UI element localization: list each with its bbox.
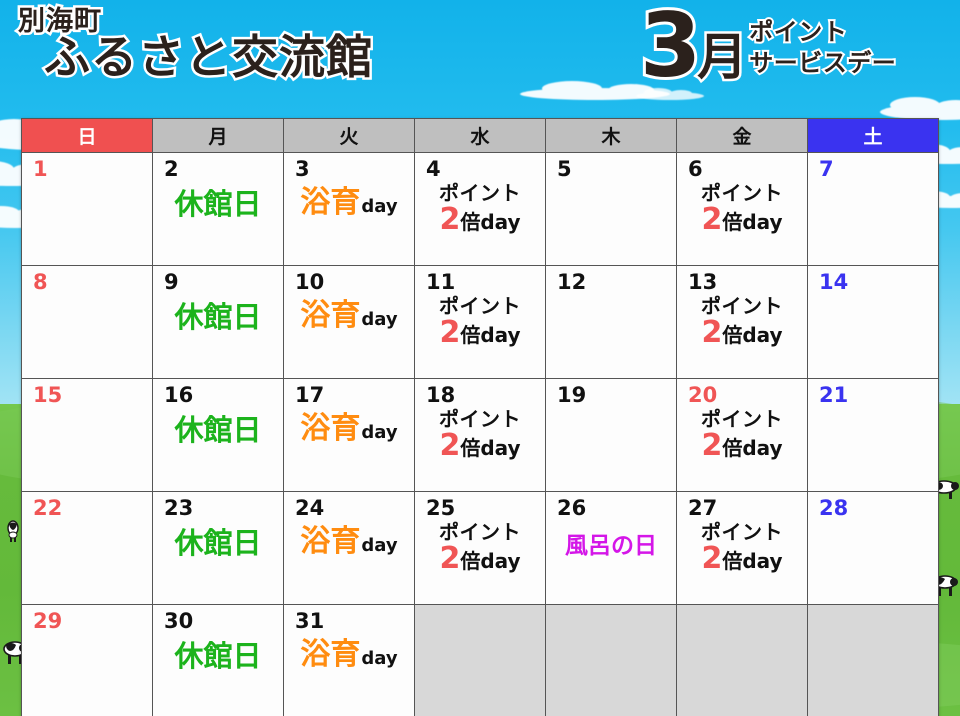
day-number: 1: [22, 153, 152, 180]
event-bath-jp: 浴育: [300, 411, 360, 446]
calendar-cell-empty: [808, 605, 939, 716]
event-furo-day: 風呂の日: [546, 535, 676, 558]
day-number: 2: [153, 153, 283, 180]
point-bai: 倍: [460, 549, 480, 573]
event-point-day: ポイント2倍day: [415, 183, 545, 235]
event-bath-jp: 浴育: [300, 524, 360, 559]
point-bai: 倍: [460, 436, 480, 460]
calendar-poster: 別海町 ふるさと交流館 3 月 ポイント サービスデー 日月火水木金土 12休館…: [0, 0, 960, 716]
calendar-week-row: 12休館日3浴育day4ポイント2倍day56ポイント2倍day7: [22, 153, 939, 266]
day-number: 3: [284, 153, 414, 180]
calendar-day-cell[interactable]: 2休館日: [153, 153, 284, 266]
event-point-day: ポイント2倍day: [415, 522, 545, 574]
point-multiplier: 2: [439, 315, 460, 350]
day-number: 5: [546, 153, 676, 180]
day-number: 21: [808, 379, 938, 406]
point-day-en: day: [742, 436, 782, 460]
day-number: 28: [808, 492, 938, 519]
event-point-label: ポイント: [677, 409, 807, 429]
month-suffix: 月: [697, 32, 747, 82]
calendar-day-cell[interactable]: 20ポイント2倍day: [677, 379, 808, 492]
point-day-en: day: [742, 210, 782, 234]
point-day-en: day: [742, 323, 782, 347]
weekday-header-row: 日月火水木金土: [22, 119, 939, 153]
event-closed: 休館日: [153, 416, 283, 445]
day-number: 29: [22, 605, 152, 632]
calendar-day-cell[interactable]: 25ポイント2倍day: [415, 492, 546, 605]
event-bath-en: day: [361, 422, 397, 443]
point-multiplier: 2: [701, 202, 722, 237]
calendar-day-cell[interactable]: 23休館日: [153, 492, 284, 605]
point-multiplier: 2: [439, 541, 460, 576]
day-number: 14: [808, 266, 938, 293]
point-multiplier: 2: [439, 428, 460, 463]
service-line-2: サービスデー: [749, 48, 896, 79]
calendar-day-cell[interactable]: 13ポイント2倍day: [677, 266, 808, 379]
point-bai: 倍: [722, 436, 742, 460]
weekday-header-1: 月: [153, 119, 284, 153]
day-number: 9: [153, 266, 283, 293]
day-number: 4: [415, 153, 545, 180]
day-number: 27: [677, 492, 807, 519]
event-closed: 休館日: [153, 303, 283, 332]
event-bath-jp: 浴育: [300, 298, 360, 333]
point-multiplier: 2: [439, 202, 460, 237]
calendar-week-row: 2223休館日24浴育day25ポイント2倍day26風呂の日27ポイント2倍d…: [22, 492, 939, 605]
event-point-day: ポイント2倍day: [415, 296, 545, 348]
weekday-header-5: 金: [677, 119, 808, 153]
point-multiplier: 2: [701, 315, 722, 350]
day-number: 25: [415, 492, 545, 519]
event-point-label: ポイント: [415, 296, 545, 316]
event-bath-jp: 浴育: [300, 637, 360, 672]
calendar-day-cell[interactable]: 26風呂の日: [546, 492, 677, 605]
day-number: 10: [284, 266, 414, 293]
calendar-day-cell[interactable]: 3浴育day: [284, 153, 415, 266]
day-number: 13: [677, 266, 807, 293]
calendar-day-cell[interactable]: 15: [22, 379, 153, 492]
calendar-day-cell[interactable]: 28: [808, 492, 939, 605]
event-point-label: ポイント: [677, 183, 807, 203]
calendar-cell-empty: [415, 605, 546, 716]
calendar-day-cell[interactable]: 17浴育day: [284, 379, 415, 492]
event-point-day: ポイント2倍day: [677, 522, 807, 574]
day-number: 6: [677, 153, 807, 180]
point-day-en: day: [480, 436, 520, 460]
event-point-value: 2倍day: [677, 205, 807, 235]
event-bath-day: 浴育day: [284, 301, 414, 331]
point-bai: 倍: [722, 549, 742, 573]
event-point-label: ポイント: [415, 183, 545, 203]
calendar-day-cell[interactable]: 4ポイント2倍day: [415, 153, 546, 266]
point-day-en: day: [480, 323, 520, 347]
event-point-value: 2倍day: [415, 431, 545, 461]
event-point-value: 2倍day: [415, 318, 545, 348]
point-day-en: day: [480, 210, 520, 234]
calendar-day-cell[interactable]: 16休館日: [153, 379, 284, 492]
day-number: 24: [284, 492, 414, 519]
day-number: 7: [808, 153, 938, 180]
calendar-day-cell[interactable]: 29: [22, 605, 153, 716]
weekday-header-4: 木: [546, 119, 677, 153]
calendar-day-cell[interactable]: 6ポイント2倍day: [677, 153, 808, 266]
event-bath-jp: 浴育: [300, 185, 360, 220]
event-point-label: ポイント: [415, 522, 545, 542]
event-point-day: ポイント2倍day: [677, 296, 807, 348]
event-point-day: ポイント2倍day: [677, 409, 807, 461]
point-bai: 倍: [460, 210, 480, 234]
day-number: 8: [22, 266, 152, 293]
cow-icon: [4, 519, 22, 545]
facility-name: ふるさと交流館: [44, 33, 373, 83]
point-bai: 倍: [722, 210, 742, 234]
event-bath-day: 浴育day: [284, 640, 414, 670]
day-number: 12: [546, 266, 676, 293]
calendar-week-row: 89休館日10浴育day11ポイント2倍day1213ポイント2倍day14: [22, 266, 939, 379]
weekday-header-3: 水: [415, 119, 546, 153]
facility-title-block: 別海町 ふるさと交流館: [18, 8, 373, 83]
calendar-day-cell[interactable]: 14: [808, 266, 939, 379]
event-bath-day: 浴育day: [284, 188, 414, 218]
day-number: 22: [22, 492, 152, 519]
point-multiplier: 2: [701, 428, 722, 463]
calendar-day-cell[interactable]: 30休館日: [153, 605, 284, 716]
calendar-day-cell[interactable]: 24浴育day: [284, 492, 415, 605]
day-number: 30: [153, 605, 283, 632]
weekday-header-2: 火: [284, 119, 415, 153]
event-bath-en: day: [361, 196, 397, 217]
calendar-day-cell[interactable]: 19: [546, 379, 677, 492]
calendar-cell-empty: [677, 605, 808, 716]
day-number: 11: [415, 266, 545, 293]
calendar-day-cell[interactable]: 27ポイント2倍day: [677, 492, 808, 605]
day-number: 20: [677, 379, 807, 406]
event-bath-day: 浴育day: [284, 527, 414, 557]
calendar-day-cell[interactable]: 1: [22, 153, 153, 266]
calendar-day-cell[interactable]: 7: [808, 153, 939, 266]
calendar-week-row: 1516休館日17浴育day18ポイント2倍day1920ポイント2倍day21: [22, 379, 939, 492]
event-point-value: 2倍day: [677, 544, 807, 574]
calendar-day-cell[interactable]: 11ポイント2倍day: [415, 266, 546, 379]
calendar-cell-empty: [546, 605, 677, 716]
event-point-label: ポイント: [677, 522, 807, 542]
calendar-day-cell[interactable]: 8: [22, 266, 153, 379]
event-closed: 休館日: [153, 642, 283, 671]
event-point-value: 2倍day: [415, 205, 545, 235]
calendar-day-cell[interactable]: 21: [808, 379, 939, 492]
service-day-label: ポイント サービスデー: [749, 17, 896, 78]
day-number: 17: [284, 379, 414, 406]
service-line-1: ポイント: [749, 17, 896, 48]
poster-banner: 別海町 ふるさと交流館 3 月 ポイント サービスデー: [0, 0, 960, 118]
event-point-label: ポイント: [415, 409, 545, 429]
event-closed: 休館日: [153, 190, 283, 219]
event-bath-en: day: [361, 309, 397, 330]
event-closed: 休館日: [153, 529, 283, 558]
point-day-en: day: [480, 549, 520, 573]
day-number: 16: [153, 379, 283, 406]
calendar-week-row: 2930休館日31浴育day: [22, 605, 939, 716]
point-day-en: day: [742, 549, 782, 573]
month-title-block: 3 月 ポイント サービスデー: [640, 4, 896, 88]
weekday-header-6: 土: [808, 119, 939, 153]
calendar-table: 日月火水木金土 12休館日3浴育day4ポイント2倍day56ポイント2倍day…: [21, 118, 939, 716]
calendar-day-cell[interactable]: 22: [22, 492, 153, 605]
calendar-day-cell[interactable]: 10浴育day: [284, 266, 415, 379]
calendar-day-cell[interactable]: 9休館日: [153, 266, 284, 379]
event-point-day: ポイント2倍day: [415, 409, 545, 461]
point-bai: 倍: [722, 323, 742, 347]
point-bai: 倍: [460, 323, 480, 347]
month-number: 3: [640, 4, 699, 88]
day-number: 15: [22, 379, 152, 406]
calendar-day-cell[interactable]: 31浴育day: [284, 605, 415, 716]
day-number: 26: [546, 492, 676, 519]
event-bath-en: day: [361, 535, 397, 556]
day-number: 23: [153, 492, 283, 519]
event-point-value: 2倍day: [677, 431, 807, 461]
event-point-value: 2倍day: [415, 544, 545, 574]
event-bath-en: day: [361, 648, 397, 669]
event-point-label: ポイント: [677, 296, 807, 316]
calendar-day-cell[interactable]: 12: [546, 266, 677, 379]
event-point-value: 2倍day: [677, 318, 807, 348]
weekday-header-0: 日: [22, 119, 153, 153]
day-number: 18: [415, 379, 545, 406]
event-bath-day: 浴育day: [284, 414, 414, 444]
event-point-day: ポイント2倍day: [677, 183, 807, 235]
point-multiplier: 2: [701, 541, 722, 576]
day-number: 19: [546, 379, 676, 406]
calendar-day-cell[interactable]: 5: [546, 153, 677, 266]
calendar-day-cell[interactable]: 18ポイント2倍day: [415, 379, 546, 492]
day-number: 31: [284, 605, 414, 632]
